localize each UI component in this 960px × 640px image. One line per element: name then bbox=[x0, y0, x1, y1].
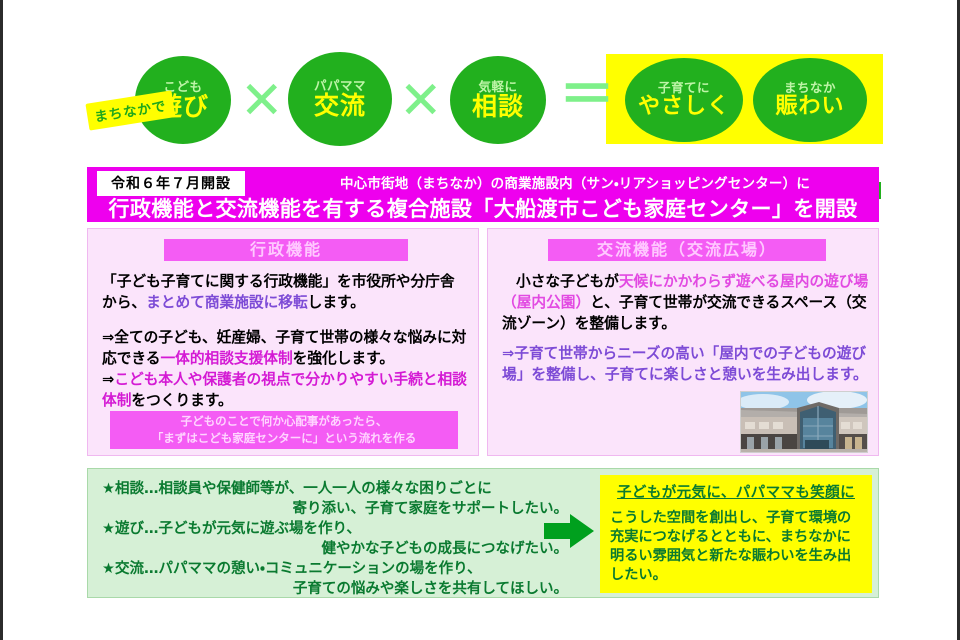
concept-circle-sodan: 気軽に 相談 bbox=[450, 56, 546, 144]
poster-page: こども 遊び ✕ パパママ 交流 ✕ 気軽に 相談 ＝ 子育てに やさしく まち… bbox=[0, 0, 960, 640]
announcement-line-1: 中心市街地（まちなか）の商業施設内（サン・リアショッピングセンター）に bbox=[277, 172, 873, 192]
admin-p2b-pre: ⇒ bbox=[102, 371, 114, 388]
panel-exchange-title: 交流機能（交流広場） bbox=[548, 239, 826, 261]
note-line-1: 子どものことで何か心配事があったら、 bbox=[110, 413, 458, 430]
concept-circle-yasashiku: 子育てに やさしく bbox=[625, 58, 743, 142]
main-announcement-banner: 令和６年７月開設 中心市街地（まちなか）の商業施設内（サン・リアショッピングセン… bbox=[87, 167, 879, 222]
concept-circle-nigiwai-sub: まちなか bbox=[784, 82, 836, 95]
shopping-center-photo-image bbox=[741, 392, 867, 452]
multiply-icon-1: ✕ bbox=[240, 75, 284, 127]
outcome-body: こうした空間を創出し、子育て環境の充実につなげるとともに、まちなかに明るい雰囲気… bbox=[610, 509, 862, 585]
concept-circle-koryu-main: 交流 bbox=[314, 93, 366, 118]
equals-icon: ＝ bbox=[559, 68, 615, 124]
note-line-2: 「まずはこども家庭センターに」という流れを作る bbox=[110, 430, 458, 447]
concept-circle-sodan-main: 相談 bbox=[472, 94, 524, 119]
admin-p1-post: します。 bbox=[308, 294, 365, 311]
administrative-paragraph-2: ⇒全ての子ども、妊産婦、子育て世帯の様々な悩みに対応できる一体的相談支援体制を強… bbox=[102, 327, 470, 411]
outcome-title: 子どもが元気に、パパママも笑顔に bbox=[610, 481, 862, 502]
right-arrow-glyph bbox=[540, 511, 598, 551]
administrative-note-box: 子どものことで何か心配事があったら、 「まずはこども家庭センターに」という流れを… bbox=[110, 411, 458, 449]
admin-p2a-highlight: 一体的相談支援体制 bbox=[160, 350, 292, 367]
panel-administrative-title: 行政機能 bbox=[164, 239, 408, 261]
outcome-box: 子どもが元気に、パパママも笑顔に こうした空間を創出し、子育て環境の充実につなげ… bbox=[600, 475, 872, 593]
concept-banner: こども 遊び ✕ パパママ 交流 ✕ 気軽に 相談 ＝ 子育てに やさしく まち… bbox=[3, 42, 960, 164]
exch-p1-post: を整備します。 bbox=[575, 315, 676, 332]
exch-p1-pre: 小さな子どもが bbox=[516, 273, 619, 290]
goals-panel: ★相談…相談員や保健師等が、一人一人の様々な困りごとに 寄り添い、子育て家庭をサ… bbox=[87, 468, 879, 598]
goal-line-2b: 健やかな子どもの成長につなげたい。 bbox=[102, 539, 568, 559]
concept-circle-yasashiku-main: やさしく bbox=[638, 96, 730, 118]
admin-p2a-post: を強化します。 bbox=[293, 350, 394, 367]
goal-line-2a: ★遊び…子どもが元気に遊ぶ場を作り、 bbox=[102, 519, 582, 539]
administrative-paragraph-1: 「子ども子育てに関する行政機能」を市役所や分庁舎から、まとめて商業施設に移転しま… bbox=[102, 271, 468, 313]
exch-p1-mid: と、子育て世帯が交流できる bbox=[590, 294, 780, 311]
concept-circle-koryu: パパママ 交流 bbox=[288, 52, 392, 146]
exchange-paragraph-2: ⇒子育て世帯からニーズの高い「屋内での子どもの遊び場」を整備し、子育てに楽しさと… bbox=[502, 343, 870, 385]
panel-administrative-functions: 行政機能 「子ども子育てに関する行政機能」を市役所や分庁舎から、まとめて商業施設… bbox=[87, 228, 479, 456]
concept-circle-yasashiku-sub: 子育てに bbox=[658, 82, 710, 95]
concept-circle-nigiwai: まちなか 賑わい bbox=[753, 58, 867, 142]
goal-line-3b: 子育ての悩みや楽しさを共有してほしい。 bbox=[102, 579, 568, 599]
multiply-icon-2: ✕ bbox=[399, 75, 443, 127]
right-arrow-icon bbox=[540, 511, 598, 551]
announcement-line-2: 行政機能と交流機能を有する複合施設「大船渡市こども家庭センター」を開設 bbox=[87, 193, 879, 223]
concept-circle-nigiwai-main: 賑わい bbox=[775, 96, 844, 118]
exchange-paragraph-1: 小さな子どもが天候にかかわらず遊べる屋内の遊び場（屋内公園）と、子育て世帯が交流… bbox=[502, 271, 870, 334]
panel-exchange-functions: 交流機能（交流広場） 小さな子どもが天候にかかわらず遊べる屋内の遊び場（屋内公園… bbox=[487, 228, 879, 456]
shopping-center-photo bbox=[740, 391, 868, 453]
goal-line-3a: ★交流…パパママの憩い・コミュニケーションの場を作り、 bbox=[102, 559, 582, 579]
admin-p2b-post: をつくります。 bbox=[131, 392, 232, 409]
admin-p1-highlight: まとめて商業施設に移転 bbox=[146, 294, 308, 311]
goal-line-1a: ★相談…相談員や保健師等が、一人一人の様々な困りごとに bbox=[102, 479, 582, 499]
goal-line-1b: 寄り添い、子育て家庭をサポートしたい。 bbox=[102, 499, 568, 519]
